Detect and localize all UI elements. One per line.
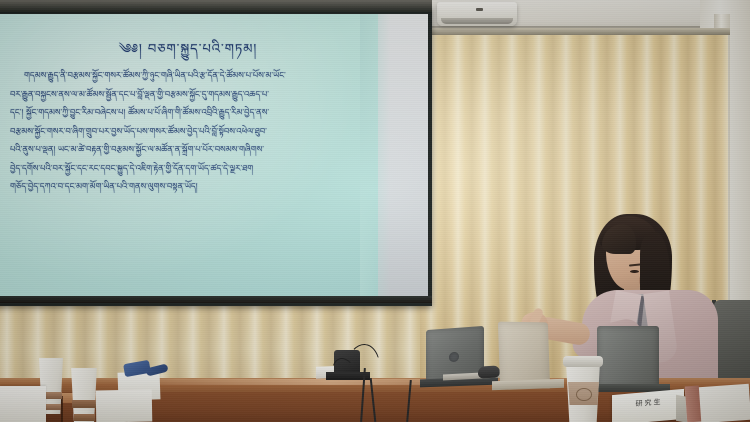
cup-logo-icon (576, 388, 592, 401)
paper-stack-left-lower (96, 390, 153, 422)
curtain-rail (398, 28, 730, 35)
computer-mouse[interactable] (478, 365, 500, 378)
projection-screen-bottom-bar (0, 296, 432, 303)
projection-screen-housing (0, 0, 432, 12)
slide-body: གདམས་རྒྱུད་ནི་བརྩམས་སྐྱོང་གསར་ཚོམས་ཀྱི་ཉ… (4, 66, 372, 196)
slide-line: པའི་ནུས་པ་ལྡན། ཡང་མ་ཚེ་བརྟན་གྱི་བརྩམས་སྐ… (10, 140, 366, 159)
air-conditioner-led (476, 8, 483, 11)
cup-band (72, 400, 96, 408)
slide-content: ༄༅། བཅག་སྐྱུད་པའི་གཏམ། གདམས་རྒྱུད་ནི་བརྩ… (4, 36, 372, 286)
cup-band (74, 414, 95, 421)
conference-room-scene: ༄༅། བཅག་སྐྱུད་པའི་གཏམ། གདམས་རྒྱུད་ནི་བརྩ… (0, 0, 750, 422)
eye-left (630, 270, 639, 273)
slide-line: གཅོད་བྱེད་དཀའ་བ་དང་མག་མོག་ཡིན་པའི་གནས་ལུ… (10, 177, 366, 196)
slide-line: བྱེད་དགོས་པའི་བར་སྐྱོང་དང་རང་དབང་སྐྱུད་ད… (10, 159, 366, 178)
notebook-spine (685, 386, 701, 422)
slide-title: ༄༅། བཅག་སྐྱུད་པའི་གཏམ། (4, 40, 372, 60)
laptop-right[interactable] (597, 326, 659, 388)
projection-edge-falloff (360, 14, 390, 298)
laptop-center[interactable] (498, 322, 550, 389)
coffee-cup-left-short[interactable] (70, 368, 98, 422)
slide-line: བརྩམས་སྐྱོང་གསར་བ་ཞིག་གྲུབ་པར་བྱས་ཡོད་པས… (10, 122, 366, 141)
projected-slide: ༄༅། བཅག་སྐྱུད་པའི་གཏམ། གདམས་རྒྱུད་ནི་བརྩ… (0, 14, 378, 298)
cup-lid (563, 356, 603, 367)
paper-stack-left (0, 386, 46, 422)
slide-line: བར་རྒྱུན་བསྐྱངས་ནས་ལ་མ་ཚོམས་སྦྱོན་དང་པ་བ… (10, 85, 366, 104)
slide-line: གདམས་རྒྱུད་ནི་བརྩམས་སྐྱོང་གསར་ཚོམས་ཀྱི་ཉ… (10, 66, 366, 85)
air-conditioner-vent (441, 18, 513, 24)
slide-line: དང་། སྐྱོང་གདམས་ཀྱི་བྱུང་རིམ་བཞེངས་པ། ཚོ… (10, 103, 366, 122)
